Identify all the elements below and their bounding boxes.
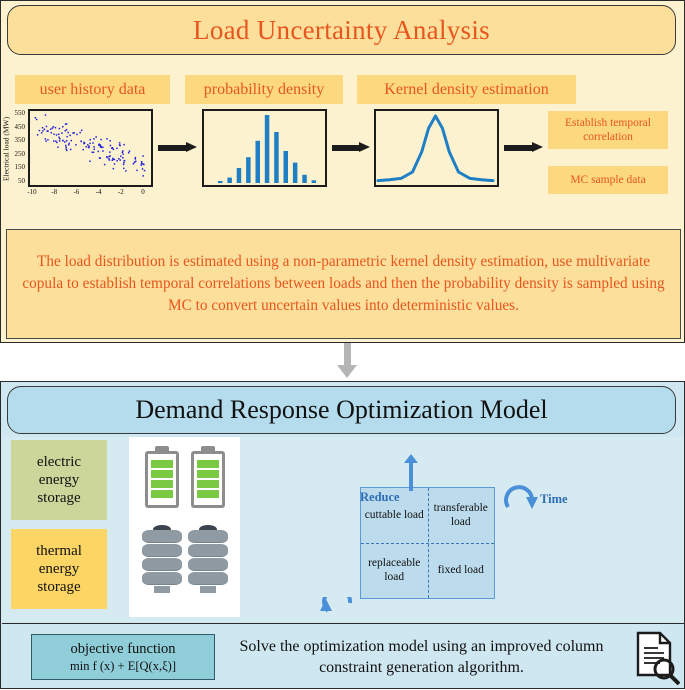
solution-method-strip: objective function min f (x) + E[Q(x,ξ)]… [2, 623, 684, 688]
tag-user-history-data: user history data [15, 75, 170, 104]
electric-line-2: energy [39, 471, 80, 489]
scatter-x-tick: -4 [91, 188, 107, 196]
thermal-line-1: thermal [36, 542, 82, 560]
label-electric-energy-storage: electric energy storage [11, 440, 107, 520]
scatter-y-tick: 250 [5, 150, 25, 158]
tag-probability-density: probability density [185, 75, 343, 104]
scatter-plot-user-history [28, 109, 153, 187]
establish-line-2: correlation [583, 130, 633, 144]
objective-function-title: objective function [70, 641, 175, 658]
battery-icon [145, 446, 179, 508]
demand-response-panel: Demand Response Optimization Model elect… [0, 381, 685, 689]
resources-and-loads-row: electric energy storage thermal energy s… [2, 437, 684, 622]
scatter-x-tick: -8 [46, 188, 62, 196]
scatter-y-tick: 450 [5, 123, 25, 131]
scatter-x-tick: -10 [24, 188, 40, 196]
axis-label-reduce: Reduce [360, 490, 400, 505]
scatter-y-tick: 350 [5, 136, 25, 144]
scatter-points [30, 111, 151, 185]
thermal-tank-icon [142, 525, 182, 593]
objective-function-box: objective function min f (x) + E[Q(x,ξ)] [31, 634, 215, 680]
establish-line-1: Establish temporal [565, 116, 651, 130]
scatter-x-tick: -2 [113, 188, 129, 196]
demand-response-title-box: Demand Response Optimization Model [7, 386, 676, 434]
scatter-y-tick: 150 [5, 163, 25, 171]
document-search-icon [632, 629, 680, 685]
storage-icons-panel [129, 437, 240, 617]
tag-establish-temporal-correlation: Establish temporal correlation [548, 111, 668, 149]
scatter-x-tick: -6 [68, 188, 84, 196]
tag-kernel-density-estimation: Kernel density estimation [357, 75, 576, 104]
section-title: Demand Response Optimization Model [135, 395, 547, 425]
thermal-line-2: energy [39, 560, 80, 578]
thermal-tank-icon [188, 525, 228, 593]
electric-line-3: storage [37, 489, 80, 507]
scatter-x-tick: 0 [135, 188, 151, 196]
kde-curve [376, 111, 497, 185]
time-loop-arrow-icon [502, 477, 538, 511]
scatter-y-tick: 50 [5, 177, 25, 185]
flow-arrow-3-icon [504, 142, 543, 153]
summary-text: The load distribution is estimated using… [19, 251, 668, 316]
tag-mc-sample-data: MC sample data [548, 166, 668, 194]
label-thermal-energy-storage: thermal energy storage [11, 529, 107, 609]
histogram-bars [204, 111, 325, 185]
load-cell-replaceable: replaceable load [361, 543, 428, 598]
summary-description-box: The load distribution is estimated using… [6, 229, 681, 339]
scatter-y-tick: 550 [5, 109, 25, 117]
page-title: Load Uncertainty Analysis [193, 15, 490, 46]
load-cell-transferable: transferable load [428, 488, 495, 543]
flow-arrow-1-icon [158, 142, 197, 153]
histogram-plot-probability-density [202, 109, 327, 187]
section-connector-arrow-icon [334, 343, 362, 381]
solve-method-text: Solve the optimization model using an im… [224, 632, 619, 682]
electric-line-1: electric [37, 453, 81, 471]
reduce-arrow-icon [404, 454, 418, 490]
load-uncertainty-panel: Load Uncertainty Analysis user history d… [0, 0, 685, 343]
load-cell-fixed: fixed load [428, 543, 495, 598]
thermal-line-3: storage [37, 578, 80, 596]
flow-arrow-2-icon [332, 142, 370, 153]
battery-icon [191, 446, 225, 508]
kde-curve-plot [374, 109, 499, 187]
objective-function-formula: min f (x) + E[Q(x,ξ)] [70, 659, 176, 674]
axis-label-time: Time [540, 492, 568, 507]
load-uncertainty-title-box: Load Uncertainty Analysis [7, 5, 676, 55]
